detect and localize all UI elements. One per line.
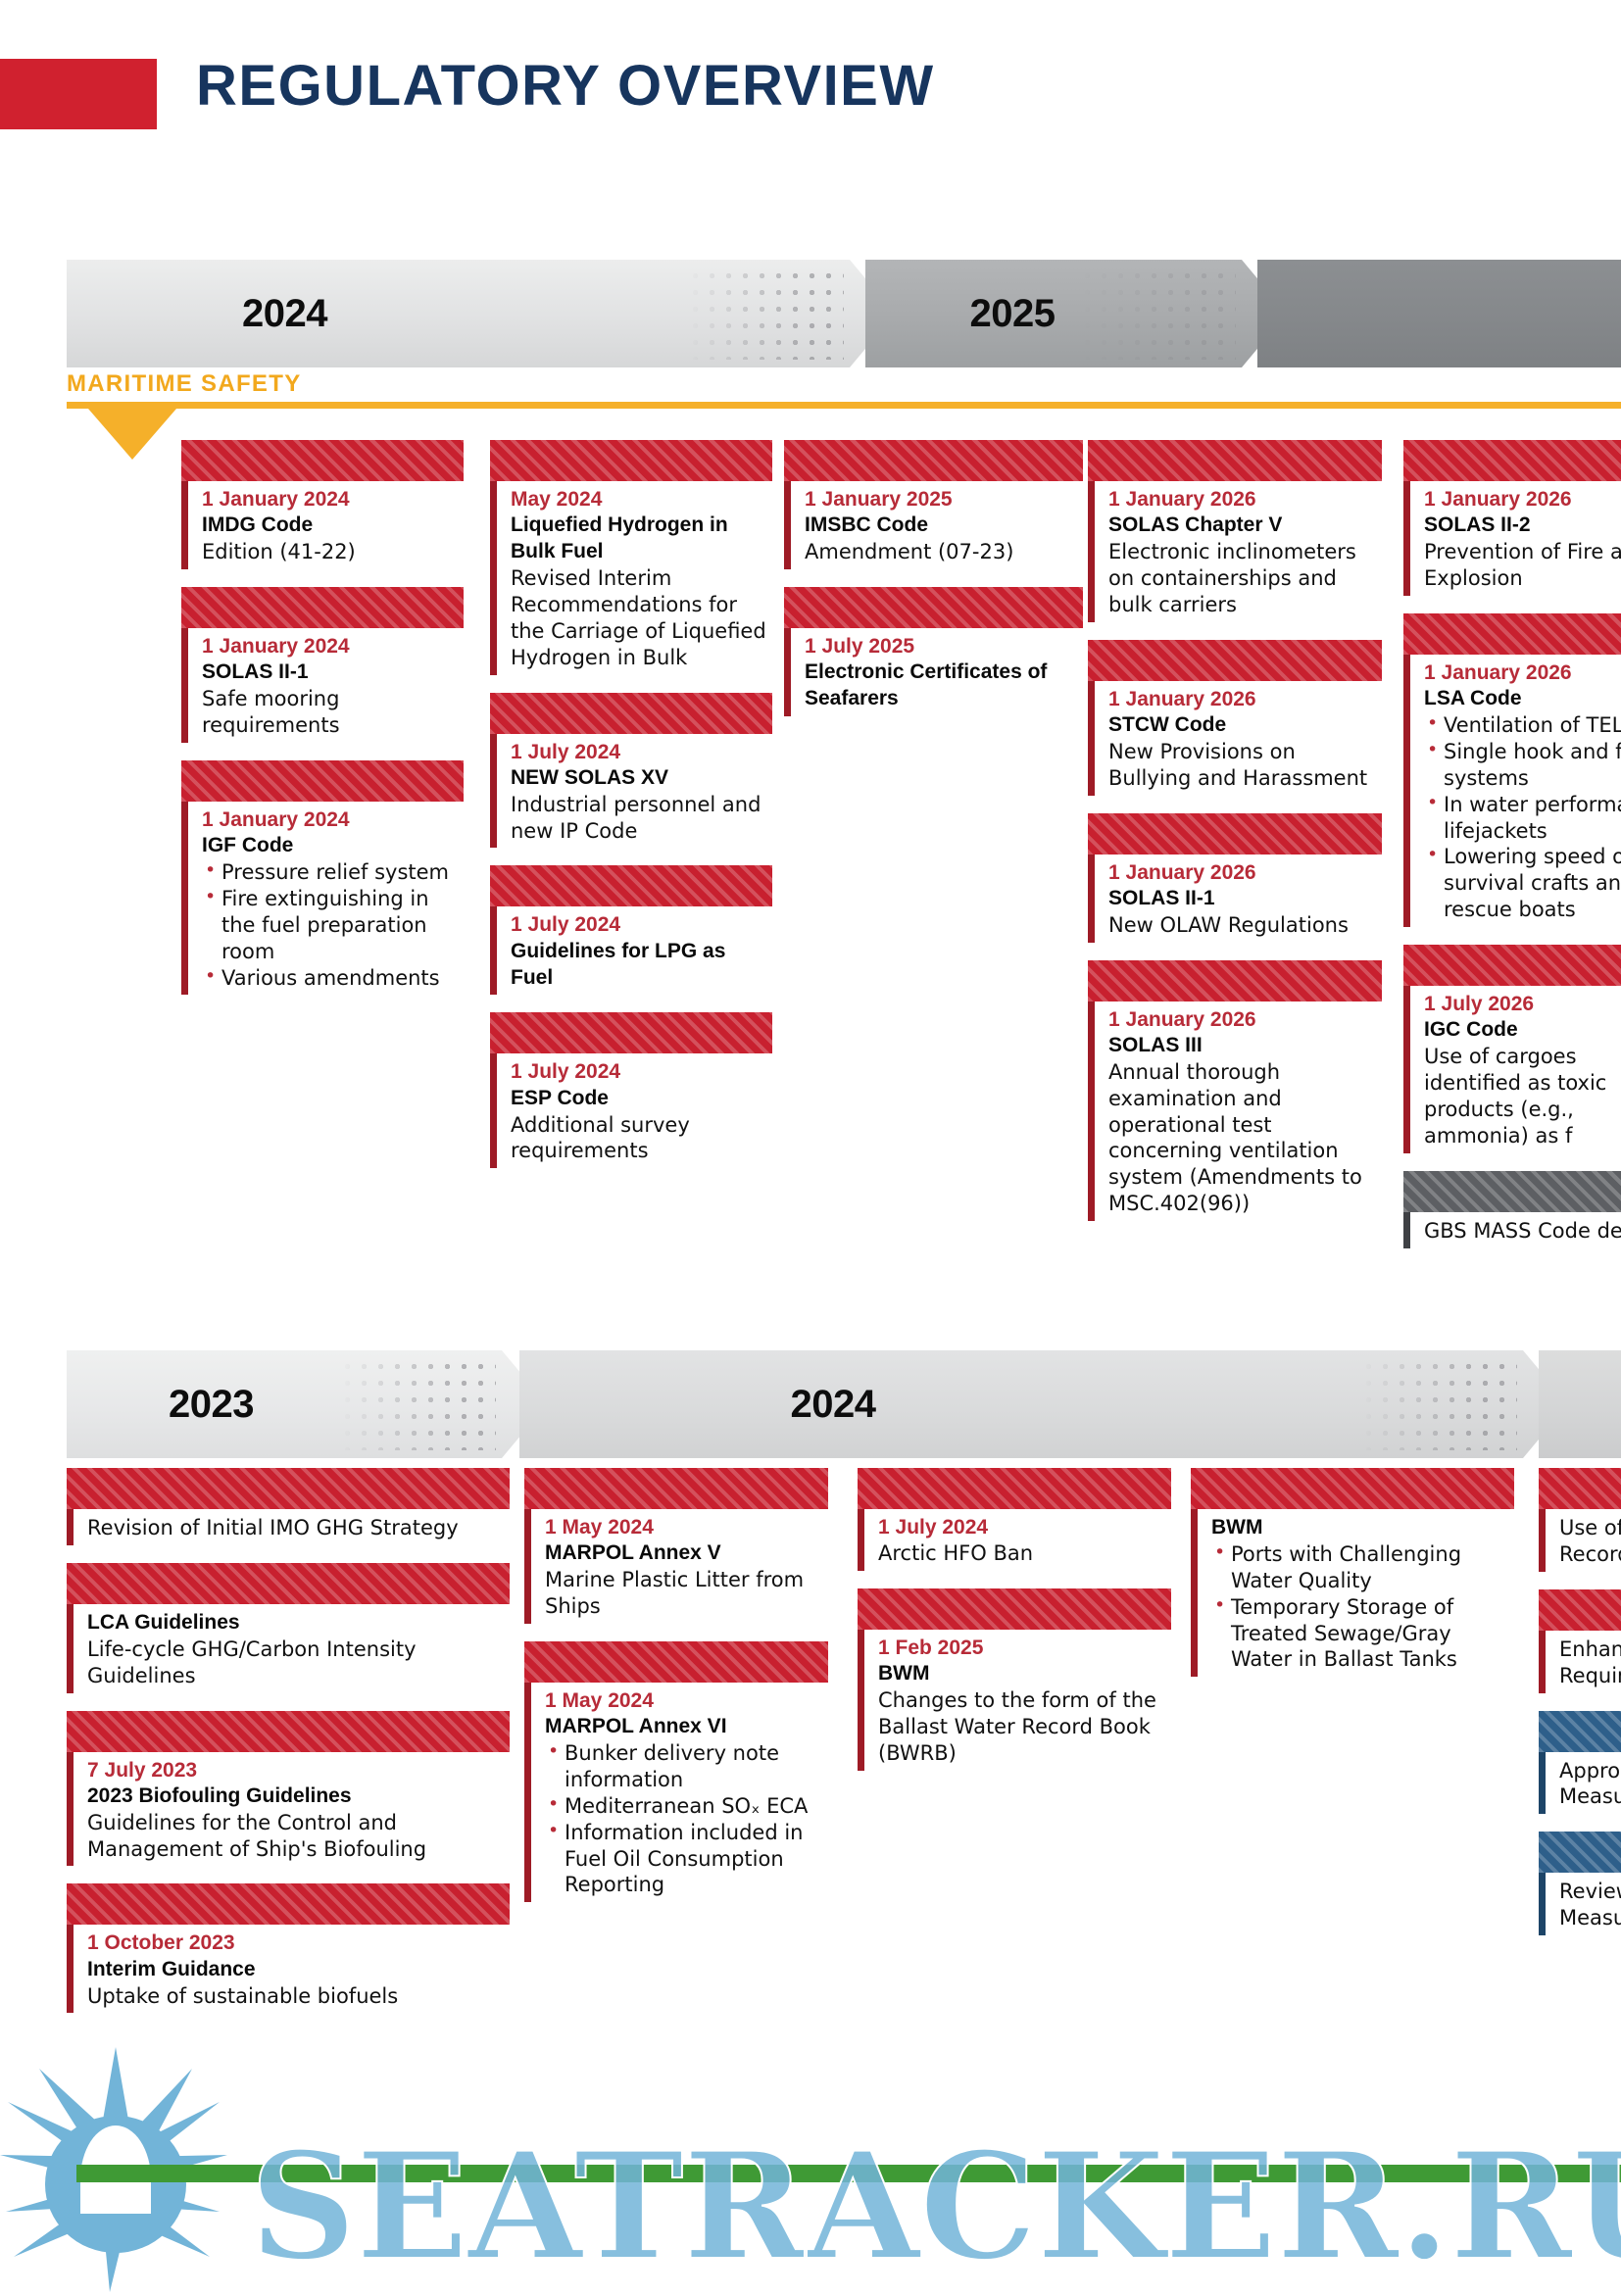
timeline-segment-label: 2024 — [242, 292, 327, 336]
card-date: 1 July 2024 — [511, 912, 766, 938]
card-date: 1 October 2023 — [87, 1930, 504, 1956]
card-header-bar — [1539, 1589, 1621, 1631]
card-header-bar — [858, 1588, 1171, 1630]
card-date: 1 January 2024 — [202, 807, 458, 833]
regulation-card: 1 July 2024NEW SOLAS XVIndustrial person… — [490, 693, 772, 849]
card-description: Prevention of Fire and Explosion — [1424, 539, 1621, 592]
card-title: Interim Guidance — [87, 1957, 504, 1983]
card-date: 1 January 2026 — [1424, 487, 1621, 513]
card-title: Electronic Certificates of Seafarers — [805, 659, 1077, 712]
card-description: Edition (41-22) — [202, 539, 458, 565]
regulation-card: 1 January 2026STCW CodeNew Provisions on… — [1088, 640, 1382, 796]
timeline-segment-label: 2023 — [169, 1383, 254, 1427]
card-date: 1 July 2024 — [511, 740, 766, 765]
card-description: Use of Ballast Record — [1559, 1515, 1621, 1568]
card-body: 1 July 2024NEW SOLAS XVIndustrial person… — [490, 734, 772, 849]
card-body: GBS MASS Code de — [1403, 1212, 1621, 1248]
regulation-card: 1 Feb 2025BWMChanges to the form of the … — [858, 1588, 1171, 1771]
regulation-card: 1 January 2024SOLAS II-1Safe mooring req… — [181, 587, 464, 743]
card-date: 1 July 2026 — [1424, 992, 1621, 1017]
regulation-card: Appro GHG N Measu — [1539, 1711, 1621, 1815]
card-header-bar — [784, 587, 1083, 628]
card-header-bar — [858, 1468, 1171, 1509]
card-title: MARPOL Annex V — [545, 1540, 822, 1567]
card-description: Amendment (07-23) — [805, 539, 1077, 565]
card-description: Arctic HFO Ban — [878, 1540, 1165, 1567]
timeline-segment-label: 2024 — [791, 1383, 876, 1427]
card-body: 1 January 2026LSA CodeVentilation of TEL… — [1403, 655, 1621, 927]
watermark-text: SEATRACKER.RU — [250, 2121, 1621, 2292]
card-header-bar — [67, 1883, 510, 1925]
card-title: BWM — [1211, 1515, 1508, 1541]
card-body: 1 July 2024Guidelines for LPG as Fuel — [490, 906, 772, 995]
card-description: Life-cycle GHG/Carbon Intensity Guidelin… — [87, 1637, 504, 1689]
regulation-card: 1 July 2025Electronic Certificates of Se… — [784, 587, 1083, 716]
page-header: REGULATORY OVERVIEW — [0, 59, 1621, 129]
card-body: Revision of Initial IMO GHG Strategy — [67, 1509, 510, 1545]
card-body: BWMPorts with Challenging Water QualityT… — [1191, 1509, 1514, 1677]
card-bullet-item: Fire extinguishing in the fuel preparati… — [202, 886, 458, 965]
regulation-card: 7 July 20232023 Biofouling GuidelinesGui… — [67, 1711, 510, 1867]
card-body: Use of Ballast Record — [1539, 1509, 1621, 1572]
card-date: 1 January 2026 — [1108, 860, 1376, 886]
card-title: 2023 Biofouling Guidelines — [87, 1783, 504, 1810]
card-title: Liquefied Hydrogen in Bulk Fuel — [511, 513, 766, 565]
card-description: Guidelines for the Control and Managemen… — [87, 1810, 504, 1863]
card-body: Appro GHG N Measu — [1539, 1752, 1621, 1815]
header-accent-block — [0, 59, 157, 129]
card-body: 1 May 2024MARPOL Annex VIBunker delivery… — [524, 1683, 828, 1902]
card-date: 1 July 2025 — [805, 634, 1077, 659]
regulation-card: 1 July 2024Arctic HFO Ban — [858, 1468, 1171, 1571]
regulation-card: 1 May 2024MARPOL Annex VMarine Plastic L… — [524, 1468, 828, 1624]
card-date: 1 January 2024 — [202, 487, 458, 513]
card-description: Revision of Initial IMO GHG Strategy — [87, 1515, 504, 1541]
timeline-segment-2025: 2025 — [865, 260, 1287, 367]
category-label: MARITIME SAFETY — [67, 370, 1621, 398]
card-date: 1 January 2024 — [202, 634, 458, 659]
card-bullet-item: Lowering speed of survival crafts and re… — [1424, 844, 1621, 923]
page-title: REGULATORY OVERVIEW — [196, 53, 935, 119]
card-title: LSA Code — [1424, 686, 1621, 712]
card-description: GBS MASS Code de — [1424, 1218, 1621, 1245]
card-description: Industrial personnel and new IP Code — [511, 792, 766, 845]
card-body: 1 July 2024ESP CodeAdditional survey req… — [490, 1053, 772, 1168]
card-header-bar — [524, 1641, 828, 1683]
category-rule — [67, 402, 1621, 409]
regulation-card: 1 January 2026SOLAS IIIAnnual thorough e… — [1088, 960, 1382, 1221]
card-title: SOLAS Chapter V — [1108, 513, 1376, 539]
section1-column-4: 1 January 2026SOLAS Chapter VElectronic … — [1088, 440, 1382, 1239]
card-header-bar — [1191, 1468, 1514, 1509]
card-date: 1 January 2026 — [1108, 687, 1376, 712]
card-header-bar — [181, 760, 464, 802]
card-header-bar — [1403, 613, 1621, 655]
timeline-segment-3b — [1539, 1350, 1621, 1458]
card-header-bar — [1088, 960, 1382, 1001]
card-body: 1 January 2026SOLAS II-1New OLAW Regulat… — [1088, 855, 1382, 943]
timeline-segment-label: 2025 — [970, 292, 1056, 336]
card-bullet-list: Ports with Challenging Water QualityTemp… — [1211, 1541, 1508, 1673]
card-body: 1 July 2025Electronic Certificates of Se… — [784, 628, 1083, 716]
card-header-bar — [1403, 945, 1621, 986]
card-title: ESP Code — [511, 1086, 766, 1112]
regulation-card: 1 January 2026SOLAS II-1New OLAW Regulat… — [1088, 813, 1382, 943]
card-title: LCA Guidelines — [87, 1610, 504, 1637]
card-bullet-list: Pressure relief systemFire extinguishing… — [202, 859, 458, 991]
card-bullet-item: Single hook and fall systems — [1424, 739, 1621, 792]
timeline-bar-2: 2023 2024 — [67, 1350, 1621, 1458]
card-body: 1 January 2024IMDG CodeEdition (41-22) — [181, 481, 464, 569]
card-date: 1 July 2024 — [878, 1515, 1165, 1540]
card-header-bar — [490, 693, 772, 734]
watermark-green-bar — [76, 2165, 1621, 2182]
card-description: Uptake of sustainable biofuels — [87, 1983, 504, 2010]
card-header-bar — [181, 440, 464, 481]
card-title: IGF Code — [202, 833, 458, 859]
section2-column-1: Revision of Initial IMO GHG StrategyLCA … — [67, 1468, 510, 2030]
regulation-card: 1 January 2025IMSBC CodeAmendment (07-23… — [784, 440, 1083, 569]
card-bullet-item: Ports with Challenging Water Quality — [1211, 1541, 1508, 1594]
regulation-card: 1 July 2024Guidelines for LPG as Fuel — [490, 865, 772, 995]
timeline-segment-2024-b: 2024 — [519, 1350, 1568, 1458]
card-date: 1 January 2026 — [1424, 660, 1621, 686]
card-bullet-item: Temporary Storage of Treated Sewage/Gray… — [1211, 1594, 1508, 1674]
card-date: 1 January 2026 — [1108, 1007, 1376, 1033]
section2-column-5: Use of Ballast RecordEnhan DCS R RequirA… — [1539, 1468, 1621, 1953]
card-description: Additional survey requirements — [511, 1112, 766, 1165]
card-title: MARPOL Annex VI — [545, 1714, 822, 1740]
card-description: Use of cargoes identified as toxic produ… — [1424, 1044, 1621, 1149]
regulation-card: Review Short- Measu Phase — [1539, 1832, 1621, 1935]
card-description: Review Short- Measu Phase — [1559, 1879, 1621, 1931]
card-title: STCW Code — [1108, 712, 1376, 739]
card-bullet-item: In water performa of lifejackets — [1424, 792, 1621, 845]
card-title: NEW SOLAS XV — [511, 765, 766, 792]
section1-column-1: 1 January 2024IMDG CodeEdition (41-22)1 … — [181, 440, 464, 1012]
regulation-card: 1 January 2026SOLAS II-2Prevention of Fi… — [1403, 440, 1621, 596]
regulation-card: 1 July 2024ESP CodeAdditional survey req… — [490, 1012, 772, 1168]
card-date: 1 Feb 2025 — [878, 1636, 1165, 1661]
regulation-card: GBS MASS Code de — [1403, 1171, 1621, 1248]
regulation-card: Use of Ballast Record — [1539, 1468, 1621, 1572]
regulation-card: Enhan DCS R Requir — [1539, 1589, 1621, 1693]
card-header-bar — [524, 1468, 828, 1509]
regulation-card: Revision of Initial IMO GHG Strategy — [67, 1468, 510, 1545]
card-title: SOLAS II-1 — [1108, 886, 1376, 912]
card-header-bar — [490, 1012, 772, 1053]
timeline-segment-2024: 2024 — [67, 260, 895, 367]
card-body: 1 January 2026STCW CodeNew Provisions on… — [1088, 681, 1382, 796]
regulation-card: 1 January 2026LSA CodeVentilation of TEL… — [1403, 613, 1621, 927]
card-bullet-item: Ventilation of TEL — [1424, 712, 1621, 739]
card-body: 1 January 2024SOLAS II-1Safe mooring req… — [181, 628, 464, 743]
regulation-card: 1 October 2023Interim GuidanceUptake of … — [67, 1883, 510, 2013]
card-body: 1 July 2026IGC CodeUse of cargoes identi… — [1403, 986, 1621, 1153]
regulation-card: 1 January 2026SOLAS Chapter VElectronic … — [1088, 440, 1382, 622]
card-date: 1 July 2024 — [511, 1059, 766, 1085]
section2-column-3: 1 July 2024Arctic HFO Ban1 Feb 2025BWMCh… — [858, 1468, 1171, 1788]
card-header-bar — [1088, 813, 1382, 855]
card-title: SOLAS III — [1108, 1033, 1376, 1059]
regulation-card: 1 January 2024IGF CodePressure relief sy… — [181, 760, 464, 996]
card-body: 1 January 2026SOLAS II-2Prevention of Fi… — [1403, 481, 1621, 596]
card-header-bar — [181, 587, 464, 628]
section1-column-3: 1 January 2025IMSBC CodeAmendment (07-23… — [784, 440, 1083, 734]
card-header-bar — [1539, 1711, 1621, 1752]
card-body: 1 January 2026SOLAS Chapter VElectronic … — [1088, 481, 1382, 622]
card-description: Revised Interim Recommendations for the … — [511, 565, 766, 671]
card-title: SOLAS II-2 — [1424, 513, 1621, 539]
card-description: New Provisions on Bullying and Harassmen… — [1108, 739, 1376, 792]
card-description: Annual thorough examination and operatio… — [1108, 1059, 1376, 1217]
section1-column-2: May 2024Liquefied Hydrogen in Bulk FuelR… — [490, 440, 772, 1186]
card-bullet-item: Mediterranean SOₓ ECA — [545, 1793, 822, 1820]
watermark: SEATRACKER.RU — [0, 2047, 1621, 2292]
section1-column-5: 1 January 2026SOLAS II-2Prevention of Fi… — [1403, 440, 1621, 1266]
card-bullet-item: Information included in Fuel Oil Consump… — [545, 1820, 822, 1899]
card-body: Enhan DCS R Requir — [1539, 1631, 1621, 1693]
card-header-bar — [490, 440, 772, 481]
card-description: Enhan DCS R Requir — [1559, 1637, 1621, 1689]
category-pointer-triangle — [88, 409, 176, 460]
regulation-card: 1 July 2026IGC CodeUse of cargoes identi… — [1403, 945, 1621, 1153]
card-body: Review Short- Measu Phase — [1539, 1873, 1621, 1935]
card-body: LCA GuidelinesLife-cycle GHG/Carbon Inte… — [67, 1604, 510, 1693]
card-header-bar — [1088, 440, 1382, 481]
card-date: 7 July 2023 — [87, 1758, 504, 1783]
regulation-card: May 2024Liquefied Hydrogen in Bulk FuelR… — [490, 440, 772, 675]
card-body: 1 October 2023Interim GuidanceUptake of … — [67, 1925, 510, 2013]
card-header-bar — [1403, 440, 1621, 481]
regulation-card: 1 May 2024MARPOL Annex VIBunker delivery… — [524, 1641, 828, 1902]
card-description: Electronic inclinometers on containershi… — [1108, 539, 1376, 618]
timeline-segment-2023: 2023 — [67, 1350, 547, 1458]
card-title: BWM — [878, 1661, 1165, 1687]
card-header-bar — [490, 865, 772, 906]
section2-column-4: BWMPorts with Challenging Water QualityT… — [1191, 1468, 1514, 1694]
card-date: 1 May 2024 — [545, 1688, 822, 1714]
category-maritime-safety: MARITIME SAFETY — [67, 370, 1621, 409]
card-header-bar — [67, 1468, 510, 1509]
card-header-bar — [784, 440, 1083, 481]
card-body: 1 July 2024Arctic HFO Ban — [858, 1509, 1171, 1571]
card-body: 1 Feb 2025BWMChanges to the form of the … — [858, 1630, 1171, 1771]
card-header-bar — [1403, 1171, 1621, 1212]
card-header-bar — [67, 1563, 510, 1604]
card-body: 1 January 2026SOLAS IIIAnnual thorough e… — [1088, 1001, 1382, 1221]
card-title: SOLAS II-1 — [202, 659, 458, 686]
timeline-bar-1: 2024 2025 — [67, 260, 1621, 367]
card-description: Safe mooring requirements — [202, 686, 458, 739]
card-body: 1 May 2024MARPOL Annex VMarine Plastic L… — [524, 1509, 828, 1624]
card-header-bar — [1539, 1832, 1621, 1873]
regulation-card: LCA GuidelinesLife-cycle GHG/Carbon Inte… — [67, 1563, 510, 1693]
card-body: 7 July 20232023 Biofouling GuidelinesGui… — [67, 1752, 510, 1867]
card-date: 1 May 2024 — [545, 1515, 822, 1540]
card-title: IMDG Code — [202, 513, 458, 539]
card-description: Appro GHG N Measu — [1559, 1758, 1621, 1811]
card-bullet-item: Various amendments — [202, 965, 458, 992]
regulation-card: 1 January 2024IMDG CodeEdition (41-22) — [181, 440, 464, 569]
card-date: 1 January 2026 — [1108, 487, 1376, 513]
timeline-segment-3 — [1257, 260, 1621, 367]
card-description: Changes to the form of the Ballast Water… — [878, 1687, 1165, 1767]
regulation-card: BWMPorts with Challenging Water QualityT… — [1191, 1468, 1514, 1677]
card-bullet-list: Ventilation of TELSingle hook and fall s… — [1424, 712, 1621, 923]
card-bullet-item: Bunker delivery note information — [545, 1740, 822, 1793]
card-date: 1 January 2025 — [805, 487, 1077, 513]
card-description: Marine Plastic Litter from Ships — [545, 1567, 822, 1620]
section2-column-2: 1 May 2024MARPOL Annex VMarine Plastic L… — [524, 1468, 828, 1920]
card-bullet-item: Pressure relief system — [202, 859, 458, 886]
card-title: Guidelines for LPG as Fuel — [511, 939, 766, 992]
card-title: IMSBC Code — [805, 513, 1077, 539]
card-date: May 2024 — [511, 487, 766, 513]
card-header-bar — [1539, 1468, 1621, 1509]
card-body: May 2024Liquefied Hydrogen in Bulk FuelR… — [490, 481, 772, 675]
card-body: 1 January 2025IMSBC CodeAmendment (07-23… — [784, 481, 1083, 569]
card-header-bar — [67, 1711, 510, 1752]
card-bullet-list: Bunker delivery note informationMediterr… — [545, 1740, 822, 1898]
card-description: New OLAW Regulations — [1108, 912, 1376, 939]
card-title: IGC Code — [1424, 1017, 1621, 1044]
card-body: 1 January 2024IGF CodePressure relief sy… — [181, 802, 464, 996]
sun-burst-icon — [0, 2047, 227, 2292]
card-header-bar — [1088, 640, 1382, 681]
